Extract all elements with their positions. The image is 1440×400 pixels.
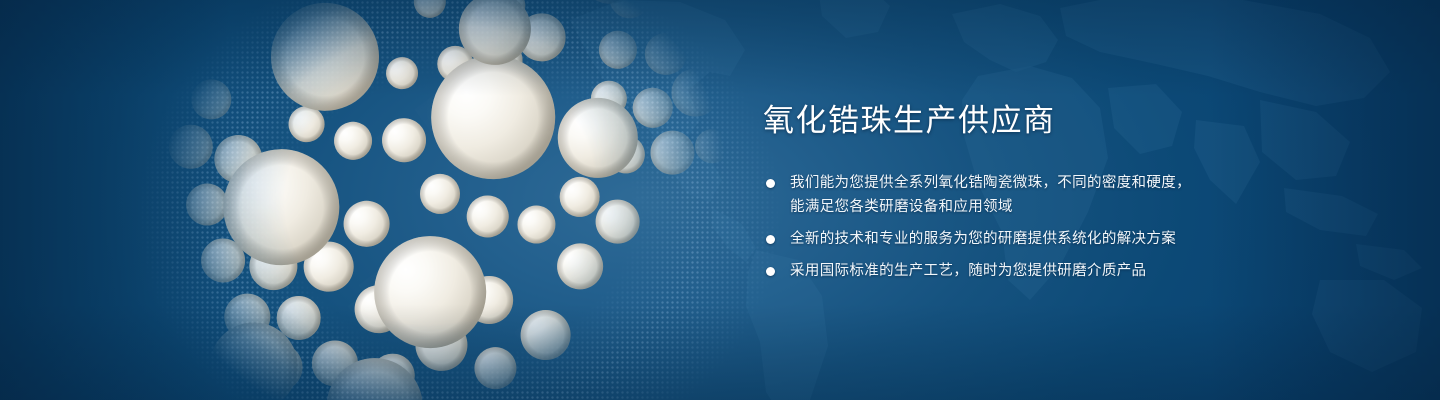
bullet-item: 全新的技术和专业的服务为您的研磨提供系统化的解决方案 — [763, 228, 1383, 251]
bullet-text-line: 全新的技术和专业的服务为您的研磨提供系统化的解决方案 — [790, 228, 1383, 251]
bullet-text-line: 采用国际标准的生产工艺，随时为您提供研磨介质产品 — [790, 260, 1383, 283]
banner-bullet-list: 我们能为您提供全系列氧化锆陶瓷微珠，不同的密度和硬度， 能满足您各类研磨设备和应… — [763, 172, 1383, 283]
bullet-dot-icon — [766, 179, 775, 188]
bullet-dot-icon — [766, 235, 775, 244]
bullet-item: 我们能为您提供全系列氧化锆陶瓷微珠，不同的密度和硬度， 能满足您各类研磨设备和应… — [763, 172, 1383, 219]
hero-banner: 氧化锆珠生产供应商 我们能为您提供全系列氧化锆陶瓷微珠，不同的密度和硬度， 能满… — [0, 0, 1440, 400]
bullet-text-line: 我们能为您提供全系列氧化锆陶瓷微珠，不同的密度和硬度， — [790, 172, 1383, 195]
banner-copy: 氧化锆珠生产供应商 我们能为您提供全系列氧化锆陶瓷微珠，不同的密度和硬度， 能满… — [763, 104, 1383, 283]
bullet-dot-icon — [766, 267, 775, 276]
zirconia-beads-image — [68, 0, 792, 400]
bullet-item: 采用国际标准的生产工艺，随时为您提供研磨介质产品 — [763, 260, 1383, 283]
banner-headline: 氧化锆珠生产供应商 — [763, 104, 1383, 139]
bullet-text-line: 能满足您各类研磨设备和应用领域 — [790, 196, 1383, 219]
